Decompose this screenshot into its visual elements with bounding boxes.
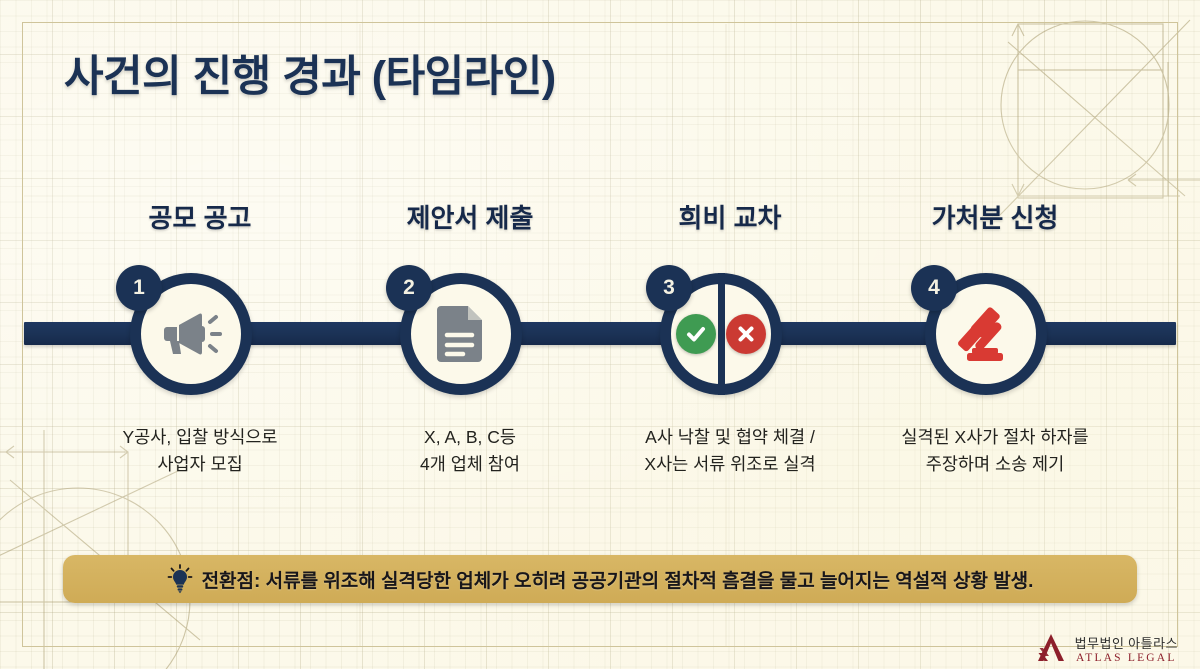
step-3-caption: A사 낙찰 및 협약 체결 / X사는 서류 위조로 실격 xyxy=(580,424,880,477)
step-2-caption: X, A, B, C등 4개 업체 참여 xyxy=(340,424,600,477)
check-icon xyxy=(676,314,716,354)
step-3-split-divider xyxy=(718,273,725,395)
logo: 법무법인 아틀라스 ATLAS LEGAL xyxy=(1034,631,1178,665)
step-1-heading: 공모 공고 xyxy=(70,198,330,235)
turning-point-text: 전환점: 서류를 위조해 실격당한 업체가 오히려 공공기관의 절차적 흠결을 … xyxy=(202,566,1034,593)
logo-text: 법무법인 아틀라스 ATLAS LEGAL xyxy=(1075,633,1178,664)
step-4-node[interactable]: 4 xyxy=(925,273,1047,395)
close-icon xyxy=(726,314,766,354)
logo-name-en: ATLAS LEGAL xyxy=(1076,652,1177,664)
step-1-number-badge: 1 xyxy=(116,265,162,311)
step-2-node[interactable]: 2 xyxy=(400,273,522,395)
step-1-node[interactable]: 1 xyxy=(130,273,252,395)
step-4-heading: 가처분 신청 xyxy=(865,198,1125,235)
slide-canvas: 사건의 진행 경과 (타임라인) 공모 공고 1 xyxy=(0,0,1200,669)
lightbulb-icon xyxy=(167,564,193,594)
turning-point-banner: 전환점: 서류를 위조해 실격당한 업체가 오히려 공공기관의 절차적 흠결을 … xyxy=(63,555,1137,603)
step-3-heading: 희비 교차 xyxy=(600,198,860,235)
step-4-caption: 실격된 X사가 절차 하자를 주장하며 소송 제기 xyxy=(845,424,1145,477)
step-3-number-badge: 3 xyxy=(646,265,692,311)
step-3-node[interactable]: 3 xyxy=(660,273,782,395)
step-1-caption: Y공사, 입찰 방식으로 사업자 모집 xyxy=(70,424,330,477)
step-2-number-badge: 2 xyxy=(386,265,432,311)
step-4-number-badge: 4 xyxy=(911,265,957,311)
atlas-a-mark-icon xyxy=(1034,631,1068,665)
logo-name-kr: 법무법인 아틀라스 xyxy=(1075,633,1178,652)
step-2-heading: 제안서 제출 xyxy=(340,198,600,235)
